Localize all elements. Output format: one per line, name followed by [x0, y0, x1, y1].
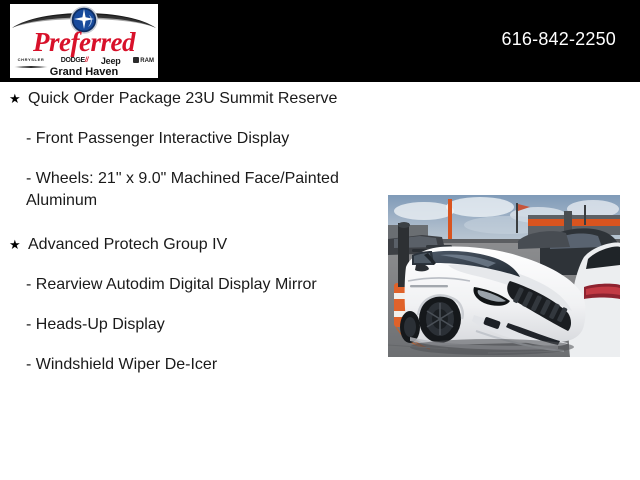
vehicle-feature-list: ★ Quick Order Package 23U Summit Reserve…: [0, 88, 380, 376]
feature-item: - Rearview Autodim Digital Display Mirro…: [0, 274, 380, 296]
brand-dodge-label: DODGE: [61, 57, 85, 64]
ram-head-icon: [133, 57, 139, 63]
feature-item: - Wheels: 21" x 9.0" Machined Face/Paint…: [0, 168, 380, 212]
feature-group-heading: ★ Advanced Protech Group IV: [0, 234, 380, 256]
feature-group: ★ Quick Order Package 23U Summit Reserve…: [0, 88, 380, 212]
brand-jeep-logo: Jeep: [101, 56, 121, 66]
star-bullet-icon: ★: [9, 88, 21, 110]
dealer-header-banner: Preferred CHRYSLER DODGE// Jeep RAM Gran…: [0, 0, 640, 82]
feature-group-heading: ★ Quick Order Package 23U Summit Reserve: [0, 88, 380, 110]
dealer-phone-number[interactable]: 616-842-2250: [502, 28, 617, 50]
feature-group: ★ Advanced Protech Group IV - Rearview A…: [0, 234, 380, 376]
vehicle-photo[interactable]: [388, 195, 620, 357]
feature-item: - Heads-Up Display: [0, 314, 380, 336]
feature-item: - Front Passenger Interactive Display: [0, 128, 380, 150]
dodge-slash-icon: //: [85, 57, 88, 64]
star-bullet-icon: ★: [9, 234, 21, 256]
brand-ram-logo: RAM: [133, 56, 154, 66]
logo-wordmark: Preferred: [10, 29, 158, 55]
feature-group-title: Quick Order Package 23U Summit Reserve: [28, 90, 337, 107]
feature-item: - Windshield Wiper De-Icer: [0, 354, 380, 376]
vehicle-feature-listing-page: Preferred CHRYSLER DODGE// Jeep RAM Gran…: [0, 0, 640, 480]
dealer-city-label: Grand Haven: [10, 66, 158, 78]
brand-dodge-logo: DODGE//: [61, 56, 88, 66]
feature-group-title: Advanced Protech Group IV: [28, 236, 227, 253]
brand-ram-label: RAM: [140, 58, 154, 64]
dealer-logo[interactable]: Preferred CHRYSLER DODGE// Jeep RAM Gran…: [10, 4, 158, 78]
brand-chrysler-label: CHRYSLER: [18, 57, 45, 62]
